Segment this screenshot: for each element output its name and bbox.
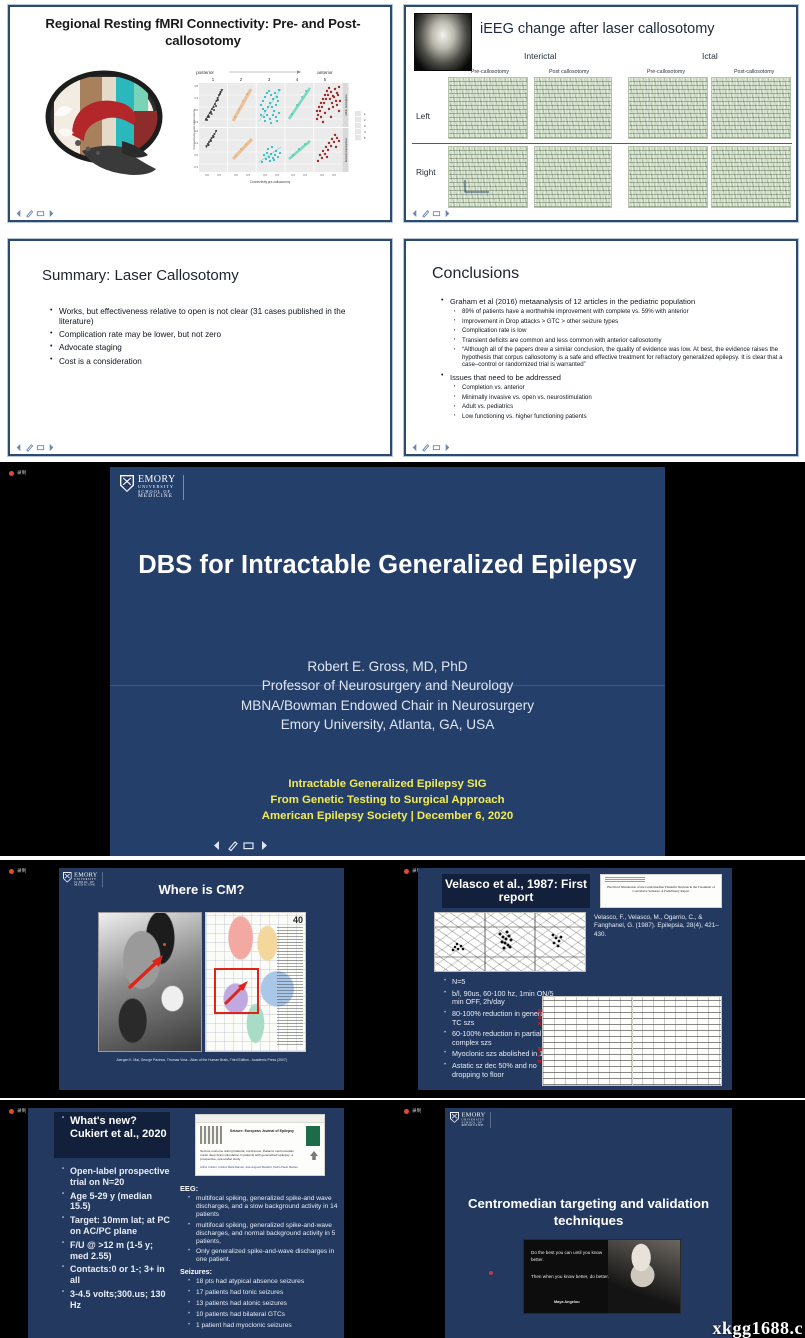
rectangle-icon [242,839,255,852]
sub-list-item: “Although all of the papers drew a simil… [462,346,784,368]
download-icon [310,1151,318,1160]
sub-list-item: Improvement in Drop attacks > GTC > othe… [462,318,784,325]
rectangle-icon [36,443,45,452]
recording-indicator: 录制 [9,1108,26,1114]
brain-sagittal-image [38,69,178,181]
next-arrow-icon [258,839,271,852]
svg-text:0.8: 0.8 [194,84,198,88]
atlas-legend-text [277,925,303,1045]
list-item: multifocal spiking, generalized spike-an… [196,1222,338,1246]
list-item: Open-label prospective trial on N=20 [70,1166,172,1188]
presentation-title-slide: EMORY UNIVERSITY SCHOOL OF MEDICINE DBS … [110,467,665,856]
slide-title-conclusions: Conclusions [432,265,519,283]
list-item: Complication rate may be lower, but not … [59,330,368,340]
paper-abstract-title: Seizure outcome during bilateral, contin… [200,1149,302,1161]
list-item: 3-4.5 volts;300.us; 130 Hz [70,1289,172,1311]
group-header-interictal: Interictal [524,51,556,61]
paper-citation: Velasco, F., Velasco, M., Ogarrio, C., &… [594,914,720,939]
video-frame-velasco[interactable]: 录制 Velasco et al., 1987: First report El… [402,860,805,1098]
slide-heading-where-is-cm: Where is CM? [59,882,344,897]
svg-text:0.5: 0.5 [303,173,307,177]
group-lead: Issues that need to be addressed [450,373,561,382]
sub-list-item: Minimally invasive vs. open vs. neurosti… [462,394,784,401]
svg-text:2: 2 [240,77,243,82]
list-item: Cost is a consideration [59,357,368,367]
slide-nav-controls[interactable] [14,209,56,218]
svg-text:0.5: 0.5 [217,173,221,177]
eeg-trace-right-interictal-pre [448,146,528,208]
meeting-line-1: Intractable Generalized Epilepsy SIG [110,776,665,792]
group-header-ictal: Ictal [702,51,718,61]
list-item: 13 patients had atonic seizures [196,1300,338,1308]
svg-text:0.0: 0.0 [291,173,295,177]
list-item: Graham et al (2016) metaanalysis of 12 a… [450,297,784,369]
logo-divider [490,1112,491,1128]
list-item: Target: 10mm lat; at PC on AC/PC plane [70,1215,172,1237]
recording-label: 录制 [17,868,26,874]
emory-shield-icon [63,872,72,883]
sub-list-item: Complication rate is low [462,327,784,334]
list-item: Contacts:0 or 1-; 3+ in all [70,1264,172,1286]
pen-icon [25,209,34,218]
next-arrow-icon [47,443,56,452]
svg-text:3: 3 [268,77,271,82]
sub-list-item: Adult vs. pediatrics [462,403,784,410]
recording-indicator: 录制 [9,868,26,874]
svg-text:1: 1 [212,77,215,82]
sub-list-item: Low functioning vs. higher functioning p… [462,413,784,420]
recording-indicator: 录制 [9,470,26,476]
record-dot-icon [9,869,14,874]
svg-text:-0.3: -0.3 [194,120,199,124]
seizures-section-header: Seizures: [180,1267,340,1276]
svg-text:anterior: anterior [317,70,333,75]
pen-icon [421,443,430,452]
journal-name: Seizure: European Journal of Epilepsy [226,1129,298,1133]
slide-nav-controls[interactable] [410,209,452,218]
slide-panel-summary[interactable]: Summary: Laser Callosotomy Works, but ef… [8,239,392,456]
list-item: Advocate staging [59,343,368,353]
svg-text:4: 4 [364,130,366,134]
summary-bullet-list: Works, but effectiveness relative to ope… [48,307,368,370]
atlas-page-number: 40 [293,915,303,925]
svg-text:5: 5 [364,136,366,140]
maya-angelou-portrait [608,1240,680,1313]
list-item: 18 pts had atypical absence seizures [196,1278,338,1286]
prev-arrow-icon [14,443,23,452]
slide-title-fmri: Regional Resting fMRI Connectivity: Pre-… [36,16,370,49]
list-item: F/U @ >12 m (1-5 y; med 2.55) [70,1240,172,1262]
logo-line-medicine: MEDICINE [462,1124,486,1128]
svg-text:0.0: 0.0 [234,173,238,177]
svg-text:0.4: 0.4 [194,141,198,145]
list-item: Age 5-29 y (median 15.5) [70,1191,172,1213]
svg-text:2: 2 [364,118,366,122]
slide-heading-velasco: Velasco et al., 1987: First report [442,878,590,905]
paper-authors: Arthur Cukiert, Cristine Mella Dalmat, J… [200,1166,302,1169]
list-item: 10 patients had bilateral GTCs [196,1311,338,1319]
ct-scan-thumbnail [414,13,472,71]
fmri-scatter-facet-chart: posterior anterior 1 2 3 4 5 [173,67,373,185]
col-header-ictal-post: Post-callosotomy [734,69,774,75]
conclusions-bullet-list: Graham et al (2016) metaanalysis of 12 a… [439,297,784,423]
col-header-ictal-pre: Pre-callosotomy [647,69,685,75]
svg-text:0.0: 0.0 [320,173,324,177]
video-frame-where-is-cm[interactable]: 录制 EMORY UNIVERSITY SCHOOL OF MEDICINE W… [0,860,402,1098]
emory-logo: EMORY UNIVERSITY SCHOOL OF MEDICINE [450,1112,491,1128]
svg-text:within-hemisphere: within-hemisphere [344,94,348,116]
slide-title-summary: Summary: Laser Callosotomy [42,267,239,284]
slide-canvas-velasco: Velasco et al., 1987: First report Elect… [418,868,732,1090]
meeting-line-3: American Epilepsy Society | December 6, … [110,808,665,824]
journal-screenshot: Seizure: European Journal of Epilepsy Se… [195,1114,325,1176]
journal-badge-icon [306,1126,320,1146]
list-item: multifocal spiking, generalized spike-an… [196,1195,338,1219]
recording-label: 录制 [412,1108,421,1114]
record-dot-icon [404,869,409,874]
rectangle-icon [432,443,441,452]
row-header-left: Left [416,111,430,121]
emory-logo: EMORY UNIVERSITY SCHOOL OF MEDICINE [120,475,184,500]
next-arrow-icon [443,209,452,218]
group-lead: Graham et al (2016) metaanalysis of 12 a… [450,297,695,306]
svg-text:0.0: 0.0 [205,173,209,177]
next-arrow-icon [443,443,452,452]
paper-title-card: Electrical Stimulation of the Centromedi… [600,874,722,908]
sub-list-item: Completion vs. anterior [462,384,784,391]
slide-heading-cukiert-wrap: What's new? Cukiert et al., 2020 [60,1115,168,1144]
slide-canvas-centromedian: EMORY UNIVERSITY SCHOOL OF MEDICINE Cent… [445,1108,732,1338]
eeg-trace-left-ictal-pre [628,77,708,139]
quote-line-2: Then when you know better, do better. [531,1274,613,1281]
eeg-trace-left-ictal-post [711,77,791,139]
sub-list-item: 89% of patients have a worthwhile improv… [462,308,784,315]
recording-label: 录制 [17,470,26,476]
slide-panel-ieeg-change[interactable]: iEEG change after laser callosotomy Inte… [404,5,798,222]
list-item: 17 patients had tonic seizures [196,1289,338,1297]
thalamic-atlas-figure [434,912,586,972]
svg-text:0.0: 0.0 [194,108,198,112]
laser-pointer-dot [489,1271,493,1275]
figure-divider [632,997,633,1085]
paper-header-lines [605,877,645,882]
pen-icon [421,209,430,218]
svg-text:0.0: 0.0 [263,173,267,177]
svg-text:0.8: 0.8 [194,129,198,133]
cukiert-bullet-list: Open-label prospective trial on N=20 Age… [60,1166,172,1314]
trace-label-max: Max [538,1010,543,1028]
logo-line-medicine: MEDICINE [138,494,176,500]
byline-line-1: Robert E. Gross, MD, PhD [110,657,665,676]
list-item: 1 patient had myoclonic seizures [196,1322,338,1330]
prev-arrow-icon [14,209,23,218]
prev-arrow-icon [410,443,419,452]
screenshot-root: Regional Resting fMRI Connectivity: Pre-… [0,0,805,1338]
svg-text:0.5: 0.5 [246,173,250,177]
svg-text:-0.3: -0.3 [194,165,199,169]
quote-attribution: Maya Angelou [554,1300,580,1304]
red-arrow-icon [222,978,252,1008]
target-marker [163,943,166,946]
left-right-divider [412,143,792,144]
slide-heading-banner: Velasco et al., 1987: First report [442,874,590,908]
meeting-info: Intractable Generalized Epilepsy SIG Fro… [110,776,665,824]
seizures-items-list: 18 pts had atypical absence seizures 17 … [186,1278,338,1330]
svg-text:0.0: 0.0 [194,153,198,157]
prev-arrow-icon [210,839,223,852]
svg-text:0.5: 0.5 [275,173,279,177]
svg-text:0.5: 0.5 [332,173,336,177]
recording-indicator: 录制 [404,1108,421,1114]
red-arrow-icon [125,950,171,992]
col-header-interictal-pre: Pre-callosotomy [471,69,509,75]
svg-text:Connectivity.pre-callosotomy: Connectivity.pre-callosotomy [250,180,291,184]
slide-canvas-where-is-cm: EMORY UNIVERSITY SCHOOL OF MEDICINE Wher… [59,868,344,1090]
list-item: N=5 [452,978,566,987]
byline-line-4: Emory University, Atlanta, GA, USA [110,715,665,734]
pen-icon [226,839,239,852]
svg-text:0.4: 0.4 [194,96,198,100]
list-item: Works, but effectiveness relative to ope… [59,307,368,327]
slide-nav-controls[interactable] [410,443,452,452]
journal-topbar [196,1115,324,1123]
prev-arrow-icon [410,209,419,218]
svg-text:posterior: posterior [196,70,214,75]
trace-label-min: Min [538,1048,543,1066]
slide-heading-centromedian: Centromedian targeting and validation te… [461,1196,716,1230]
eeg-trace-right-ictal-pre [628,146,708,208]
slide-canvas-cukiert: What's new? Cukiert et al., 2020 Open-la… [28,1108,344,1338]
logo-divider [183,475,184,500]
recording-label: 录制 [17,1108,26,1114]
list-item: Only generalized spike-and-wave discharg… [196,1248,338,1264]
svg-text:between-hemisphere: between-hemisphere [344,137,348,162]
eeg-items-list: multifocal spiking, generalized spike-an… [186,1195,338,1264]
watermark-text: xkgg1688.c [713,1318,804,1338]
slide-panel-fmri-connectivity[interactable]: Regional Resting fMRI Connectivity: Pre-… [8,5,392,222]
rectangle-icon [36,209,45,218]
cukiert-eeg-section: EEG: multifocal spiking, generalized spi… [180,1184,340,1333]
meeting-line-2: From Genetic Testing to Surgical Approac… [110,792,665,808]
quote-line-1: Do the best you can until you know bette… [531,1250,609,1263]
record-dot-icon [9,1109,14,1114]
slide-nav-controls[interactable] [14,443,56,452]
eeg-recording-figure [542,996,722,1086]
journal-cover-thumb [200,1126,222,1144]
record-dot-icon [9,471,14,476]
row-header-right: Right [416,167,436,177]
video-frame-centromedian[interactable]: 录制 EMORY UNIVERSITY SCHOOL OF MEDICINE C… [402,1100,805,1338]
video-scanline [110,685,665,686]
pen-icon [25,443,34,452]
slide-title-ieeg: iEEG change after laser callosotomy [480,21,715,37]
paper-title: Electrical Stimulation of the Centromedi… [606,885,716,894]
eeg-trace-right-interictal-post [534,146,612,208]
figure-citation: Juergen K. Mai, George Paxinos, Thomas V… [59,1058,344,1062]
emory-wordmark: EMORY UNIVERSITY SCHOOL OF MEDICINE [462,1112,486,1128]
eeg-trace-left-interictal-pre [448,77,528,139]
presentation-heading: DBS for Intractable Generalized Epilepsy [110,551,665,580]
video-frame-cukiert[interactable]: 录制 What's new? Cukiert et al., 2020 Open… [0,1100,402,1338]
emory-shield-icon [450,1112,459,1123]
col-header-interictal-post: Post callosotomy [549,69,589,75]
svg-text:1: 1 [364,112,366,116]
svg-text:5: 5 [324,77,327,82]
eeg-scale-marker [464,179,490,195]
presenter-byline: Robert E. Gross, MD, PhD Professor of Ne… [110,657,665,734]
slide-nav-controls[interactable] [210,839,271,852]
rectangle-icon [432,209,441,218]
next-arrow-icon [47,209,56,218]
emory-shield-icon [120,475,134,492]
svg-text:3: 3 [364,124,366,128]
byline-line-3: MBNA/Bowman Endowed Chair in Neurosurger… [110,696,665,715]
svg-text:4: 4 [296,77,299,82]
eeg-trace-right-ictal-post [711,146,791,208]
record-dot-icon [404,1109,409,1114]
sub-list-item: Transient deficits are common and less c… [462,337,784,344]
eeg-trace-left-interictal-post [534,77,612,139]
video-frame-title-slide[interactable]: 录制 EMORY UNIVERSITY SCHOOL OF MEDICINE D… [0,462,805,856]
maya-angelou-quote-card: Do the best you can until you know bette… [523,1239,681,1314]
slide-panel-conclusions[interactable]: Conclusions Graham et al (2016) metaanal… [404,239,798,456]
slide-heading-cukiert: What's new? Cukiert et al., 2020 [70,1115,168,1141]
list-item: Issues that need to be addressed Complet… [450,373,784,420]
eeg-section-header: EEG: [180,1184,340,1193]
emory-wordmark: EMORY UNIVERSITY SCHOOL OF MEDICINE [138,475,176,500]
